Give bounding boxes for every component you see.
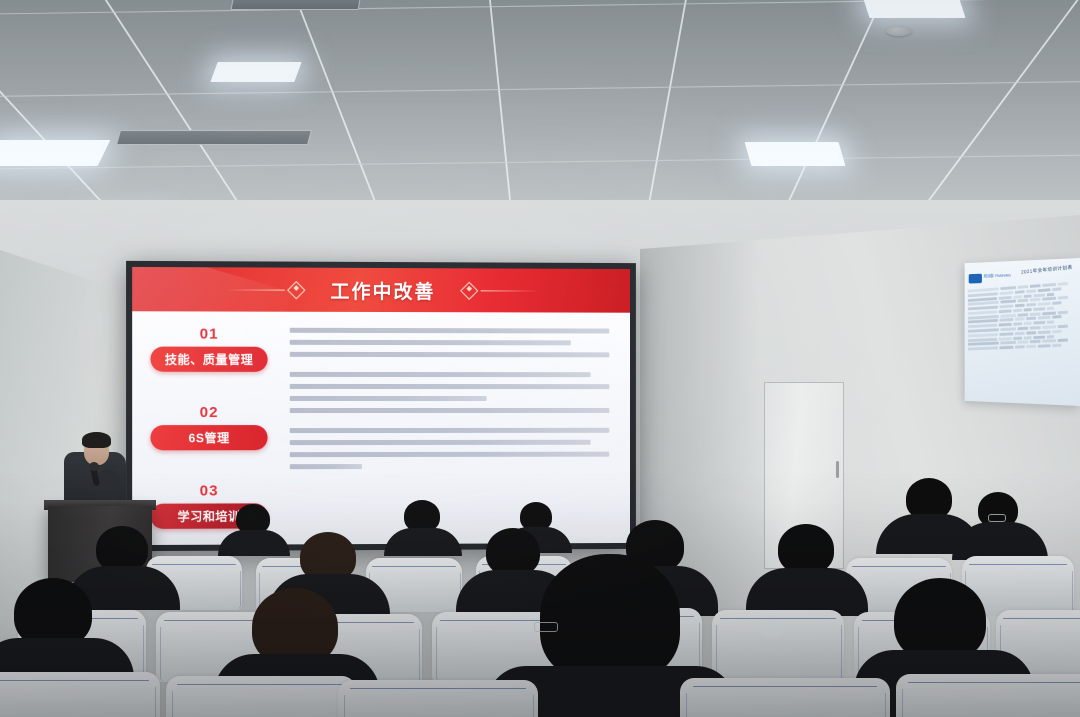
poster-table-cell (1030, 340, 1041, 343)
conference-room-photo: 培训部 TRAINING 2021年全年培训计划表 工作中改善 01 (0, 0, 1080, 717)
poster-table-cell (1043, 283, 1057, 287)
audience-shoulders (218, 530, 290, 556)
slide-step: 02 6S管理 (132, 404, 286, 450)
poster-table-cell (1001, 300, 1016, 304)
poster-table-cell (1015, 332, 1025, 335)
poster-table-cell (968, 324, 997, 328)
poster-table-cell (1026, 289, 1036, 292)
poster-table-cell (1023, 336, 1032, 339)
poster-table-cell (1026, 331, 1036, 334)
audience-glasses-icon (534, 622, 558, 632)
poster-table-cell (1013, 323, 1022, 326)
poster-table-cell (1017, 341, 1028, 344)
slide-text-line (290, 408, 610, 413)
poster-table-cell (1047, 335, 1055, 338)
audience-glasses-icon (988, 514, 1006, 522)
poster-table-cell (1047, 321, 1055, 324)
poster-table-cell (1017, 313, 1028, 316)
poster-table-cell (1026, 317, 1036, 320)
step-number: 01 (200, 326, 219, 343)
poster-table-cell (1052, 344, 1061, 347)
poster-org-label: 培训部 TRAINING (984, 273, 1011, 279)
poster-table-cell (968, 347, 998, 351)
poster-table-cell (1052, 330, 1061, 333)
audience-chair-foreground (0, 672, 160, 717)
poster-table-cell (1043, 325, 1057, 328)
slide-text-line (290, 340, 571, 346)
speaker-hair (82, 432, 111, 448)
poster-table-cell (1058, 310, 1068, 313)
poster-table-cell (1026, 345, 1036, 348)
slide-text-block (290, 328, 616, 358)
poster-table-cell (999, 318, 1013, 321)
poster-table-cell (1052, 287, 1061, 290)
poster-table-cell (1058, 339, 1068, 342)
poster-table-cell (998, 296, 1011, 299)
poster-table-cell (1023, 322, 1032, 325)
ceiling-light-panel (745, 142, 846, 166)
audience-chair-foreground (896, 674, 1080, 717)
poster-table-cell (1038, 288, 1050, 291)
slide-text-line (290, 464, 362, 469)
ornament-left-icon (225, 283, 309, 296)
ceiling-light-panel (862, 0, 965, 18)
face-mask-icon (762, 620, 782, 638)
poster-table-cell (1023, 308, 1032, 311)
poster-title: 2021年全年培训计划表 (1021, 264, 1073, 276)
poster-table-cell (1001, 341, 1016, 344)
poster-table-cell (1030, 326, 1041, 329)
ceiling-light-panel (210, 62, 301, 82)
poster-table-cell (968, 333, 998, 337)
step-label-pill: 技能、质量管理 (150, 347, 267, 372)
slide-step: 01 技能、质量管理 (132, 325, 286, 372)
poster-table-cell (1015, 318, 1025, 321)
poster-table-cell (1038, 330, 1050, 333)
ceiling-light-panel (0, 140, 110, 166)
poster-table-cell (1013, 309, 1022, 312)
poster-table-cell (1043, 311, 1057, 314)
poster-table-grid (968, 284, 1076, 402)
ornament-right-icon (457, 284, 539, 297)
audience-head (486, 528, 540, 576)
audience-head (778, 524, 834, 574)
step-label-pill: 6S管理 (150, 425, 267, 450)
step-number: 02 (200, 404, 219, 421)
audience-chair-foreground (680, 678, 890, 717)
slide-title-bar: 工作中改善 (132, 267, 630, 313)
poster-table-cell (1034, 293, 1045, 296)
poster-table-cell (1058, 325, 1068, 328)
slide-text-line (290, 440, 591, 445)
audience-chair-foreground (338, 680, 538, 717)
poster-table-cell (998, 323, 1011, 326)
poster-table-cell (1034, 307, 1045, 310)
poster-table-cell (1013, 295, 1022, 298)
poster-table-cell (1030, 284, 1041, 287)
poster-table-cell (1043, 297, 1057, 300)
slide-text-block (290, 372, 616, 413)
poster-table-cell (1017, 299, 1028, 302)
poster-table-cell (999, 291, 1013, 295)
audience-chair-foreground (166, 676, 356, 717)
poster-table-cell (1026, 303, 1036, 306)
poster-table-cell (998, 337, 1011, 340)
poster-table-cell (1058, 282, 1068, 285)
audience-shoulders (384, 528, 462, 556)
poster-table-cell (1017, 327, 1028, 330)
poster-table-cell (1015, 304, 1025, 307)
slide-text-line (290, 328, 610, 334)
poster-table-cell (1030, 298, 1041, 301)
slide-text-line (290, 452, 610, 457)
poster-table-cell (1015, 345, 1025, 348)
poster-table-cell (1043, 339, 1057, 342)
poster-table-cell (968, 292, 998, 297)
slide-title: 工作中改善 (330, 276, 435, 303)
slide-text-line (290, 396, 487, 401)
poster-table-cell (1017, 285, 1028, 288)
poster-table-cell (1052, 316, 1061, 319)
poster-table-cell (1034, 335, 1045, 338)
poster-table-cell (968, 328, 999, 332)
poster-table-cell (1030, 312, 1041, 315)
ceiling-air-vent (231, 0, 362, 10)
poster-table-cell (999, 332, 1013, 335)
poster-table-cell (1047, 307, 1055, 310)
slide-text-block (290, 428, 616, 469)
poster-logo-icon (969, 274, 982, 284)
poster-table-cell (1038, 316, 1050, 319)
poster-table-cell (968, 338, 997, 342)
audience-head-foreground (540, 554, 680, 682)
smoke-detector-icon (886, 26, 912, 36)
slide-text-line (290, 428, 610, 433)
poster-table-cell (968, 310, 997, 314)
slide-text-line (290, 384, 610, 389)
poster-table-cell (1001, 314, 1016, 317)
audience-shoulders (746, 568, 868, 616)
poster-table-cell (1015, 290, 1025, 293)
poster-table-cell (968, 342, 999, 346)
poster-table-cell (968, 306, 998, 310)
wall-poster-training-plan: 培训部 TRAINING 2021年全年培训计划表 (965, 258, 1080, 406)
poster-table-cell (999, 346, 1013, 349)
poster-table-cell (1052, 301, 1061, 304)
slide-text-line (290, 352, 610, 358)
poster-table-cell (1001, 327, 1016, 330)
slide-text-line (290, 372, 591, 377)
poster-table-cell (1023, 294, 1032, 297)
poster-table-cell (1001, 286, 1016, 290)
poster-table-cell (1038, 344, 1050, 347)
poster-table-cell (998, 309, 1011, 312)
poster-table-cell (1034, 321, 1045, 324)
audience-area (0, 470, 1080, 717)
poster-table-cell (1047, 292, 1055, 295)
poster-table-cell (999, 305, 1013, 308)
poster-table-cell (1058, 296, 1068, 299)
poster-table-cell (1038, 302, 1050, 305)
ceiling-air-vent (116, 130, 312, 145)
poster-table-cell (1013, 336, 1022, 339)
